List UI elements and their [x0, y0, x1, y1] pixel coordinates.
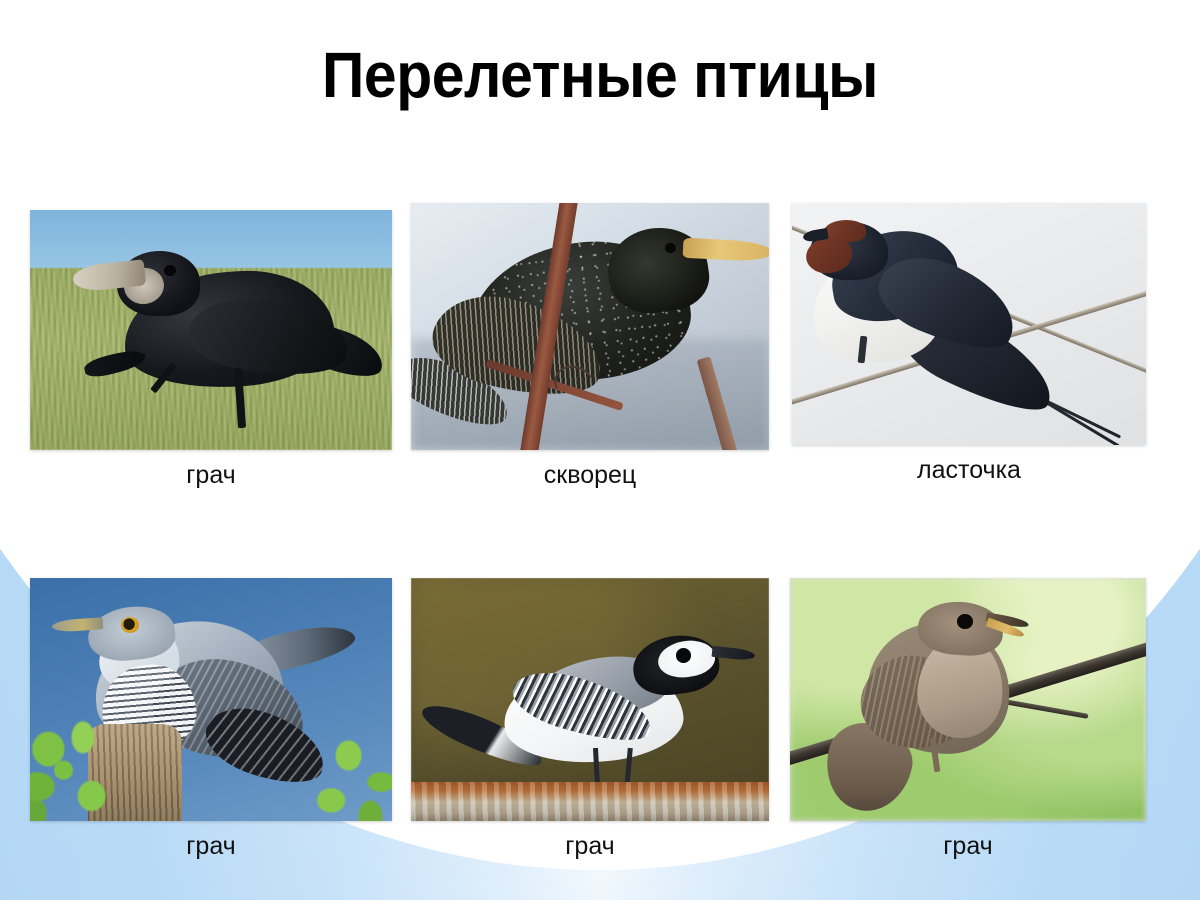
bird-photo-rook-2[interactable] — [30, 578, 392, 821]
bird-card-rook-4[interactable]: грач — [790, 578, 1146, 861]
bird-caption: грач — [790, 832, 1146, 861]
bird-eye — [957, 614, 973, 629]
bird-caption: ласточка — [792, 456, 1146, 485]
bird-eye — [676, 648, 691, 663]
bird-card-rook-2[interactable]: грач — [30, 578, 392, 861]
bird-grid: грач скворец — [0, 0, 1200, 900]
bird-caption: скворец — [411, 461, 769, 490]
bird-eye — [164, 265, 176, 276]
slide-root: Перелетные птицы — [0, 0, 1200, 900]
bird-photo-rook-4[interactable] — [790, 578, 1146, 821]
photo-scene-wagtail — [411, 578, 769, 821]
rusty-rail — [411, 782, 769, 821]
bird-photo-rook-3[interactable] — [411, 578, 769, 821]
foliage-right — [305, 729, 392, 821]
photo-scene-rook — [30, 210, 392, 450]
bird-card-rook-3[interactable]: грач — [411, 578, 769, 861]
bird-photo-starling[interactable] — [411, 203, 769, 450]
photo-scene-swallow — [792, 203, 1146, 445]
bird-photo-rook-1[interactable] — [30, 210, 392, 450]
bird-eye — [665, 243, 676, 254]
bird-eye — [121, 617, 139, 633]
bird-card-swallow[interactable]: ласточка — [792, 203, 1146, 485]
bird-photo-swallow[interactable] — [792, 203, 1146, 445]
photo-scene-nightingale — [790, 578, 1146, 821]
bird-card-rook-1[interactable]: грач — [30, 210, 392, 490]
bird-caption: грач — [30, 461, 392, 490]
bird-caption: грач — [411, 832, 769, 861]
foliage-left — [30, 714, 124, 821]
photo-scene-cuckoo — [30, 578, 392, 821]
bird-card-starling[interactable]: скворец — [411, 203, 769, 490]
bird-caption: грач — [30, 832, 392, 861]
photo-scene-starling — [411, 203, 769, 450]
